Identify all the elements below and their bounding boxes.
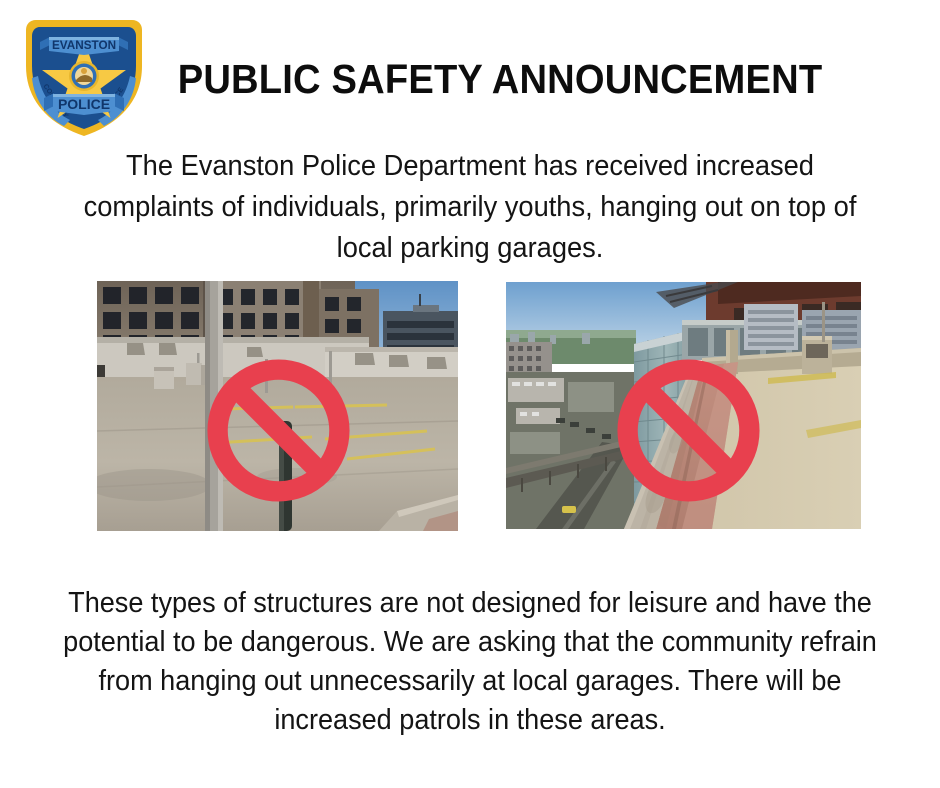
page-title: PUBLIC SAFETY ANNOUNCEMENT — [175, 56, 826, 103]
announcement-closing-text: These types of structures are not design… — [41, 584, 900, 740]
svg-text:POLICE: POLICE — [58, 96, 110, 112]
parking-garage-rooftop-photo — [97, 281, 458, 531]
parking-garage-ledge-photo — [506, 282, 861, 529]
evanston-police-badge-icon: COURTESY SERVICE EVANSTON POLICE — [16, 14, 152, 140]
svg-text:EVANSTON: EVANSTON — [52, 39, 116, 52]
announcement-intro-text: The Evanston Police Department has recei… — [80, 146, 860, 269]
header: COURTESY SERVICE EVANSTON POLICE PUBLIC … — [0, 0, 940, 148]
